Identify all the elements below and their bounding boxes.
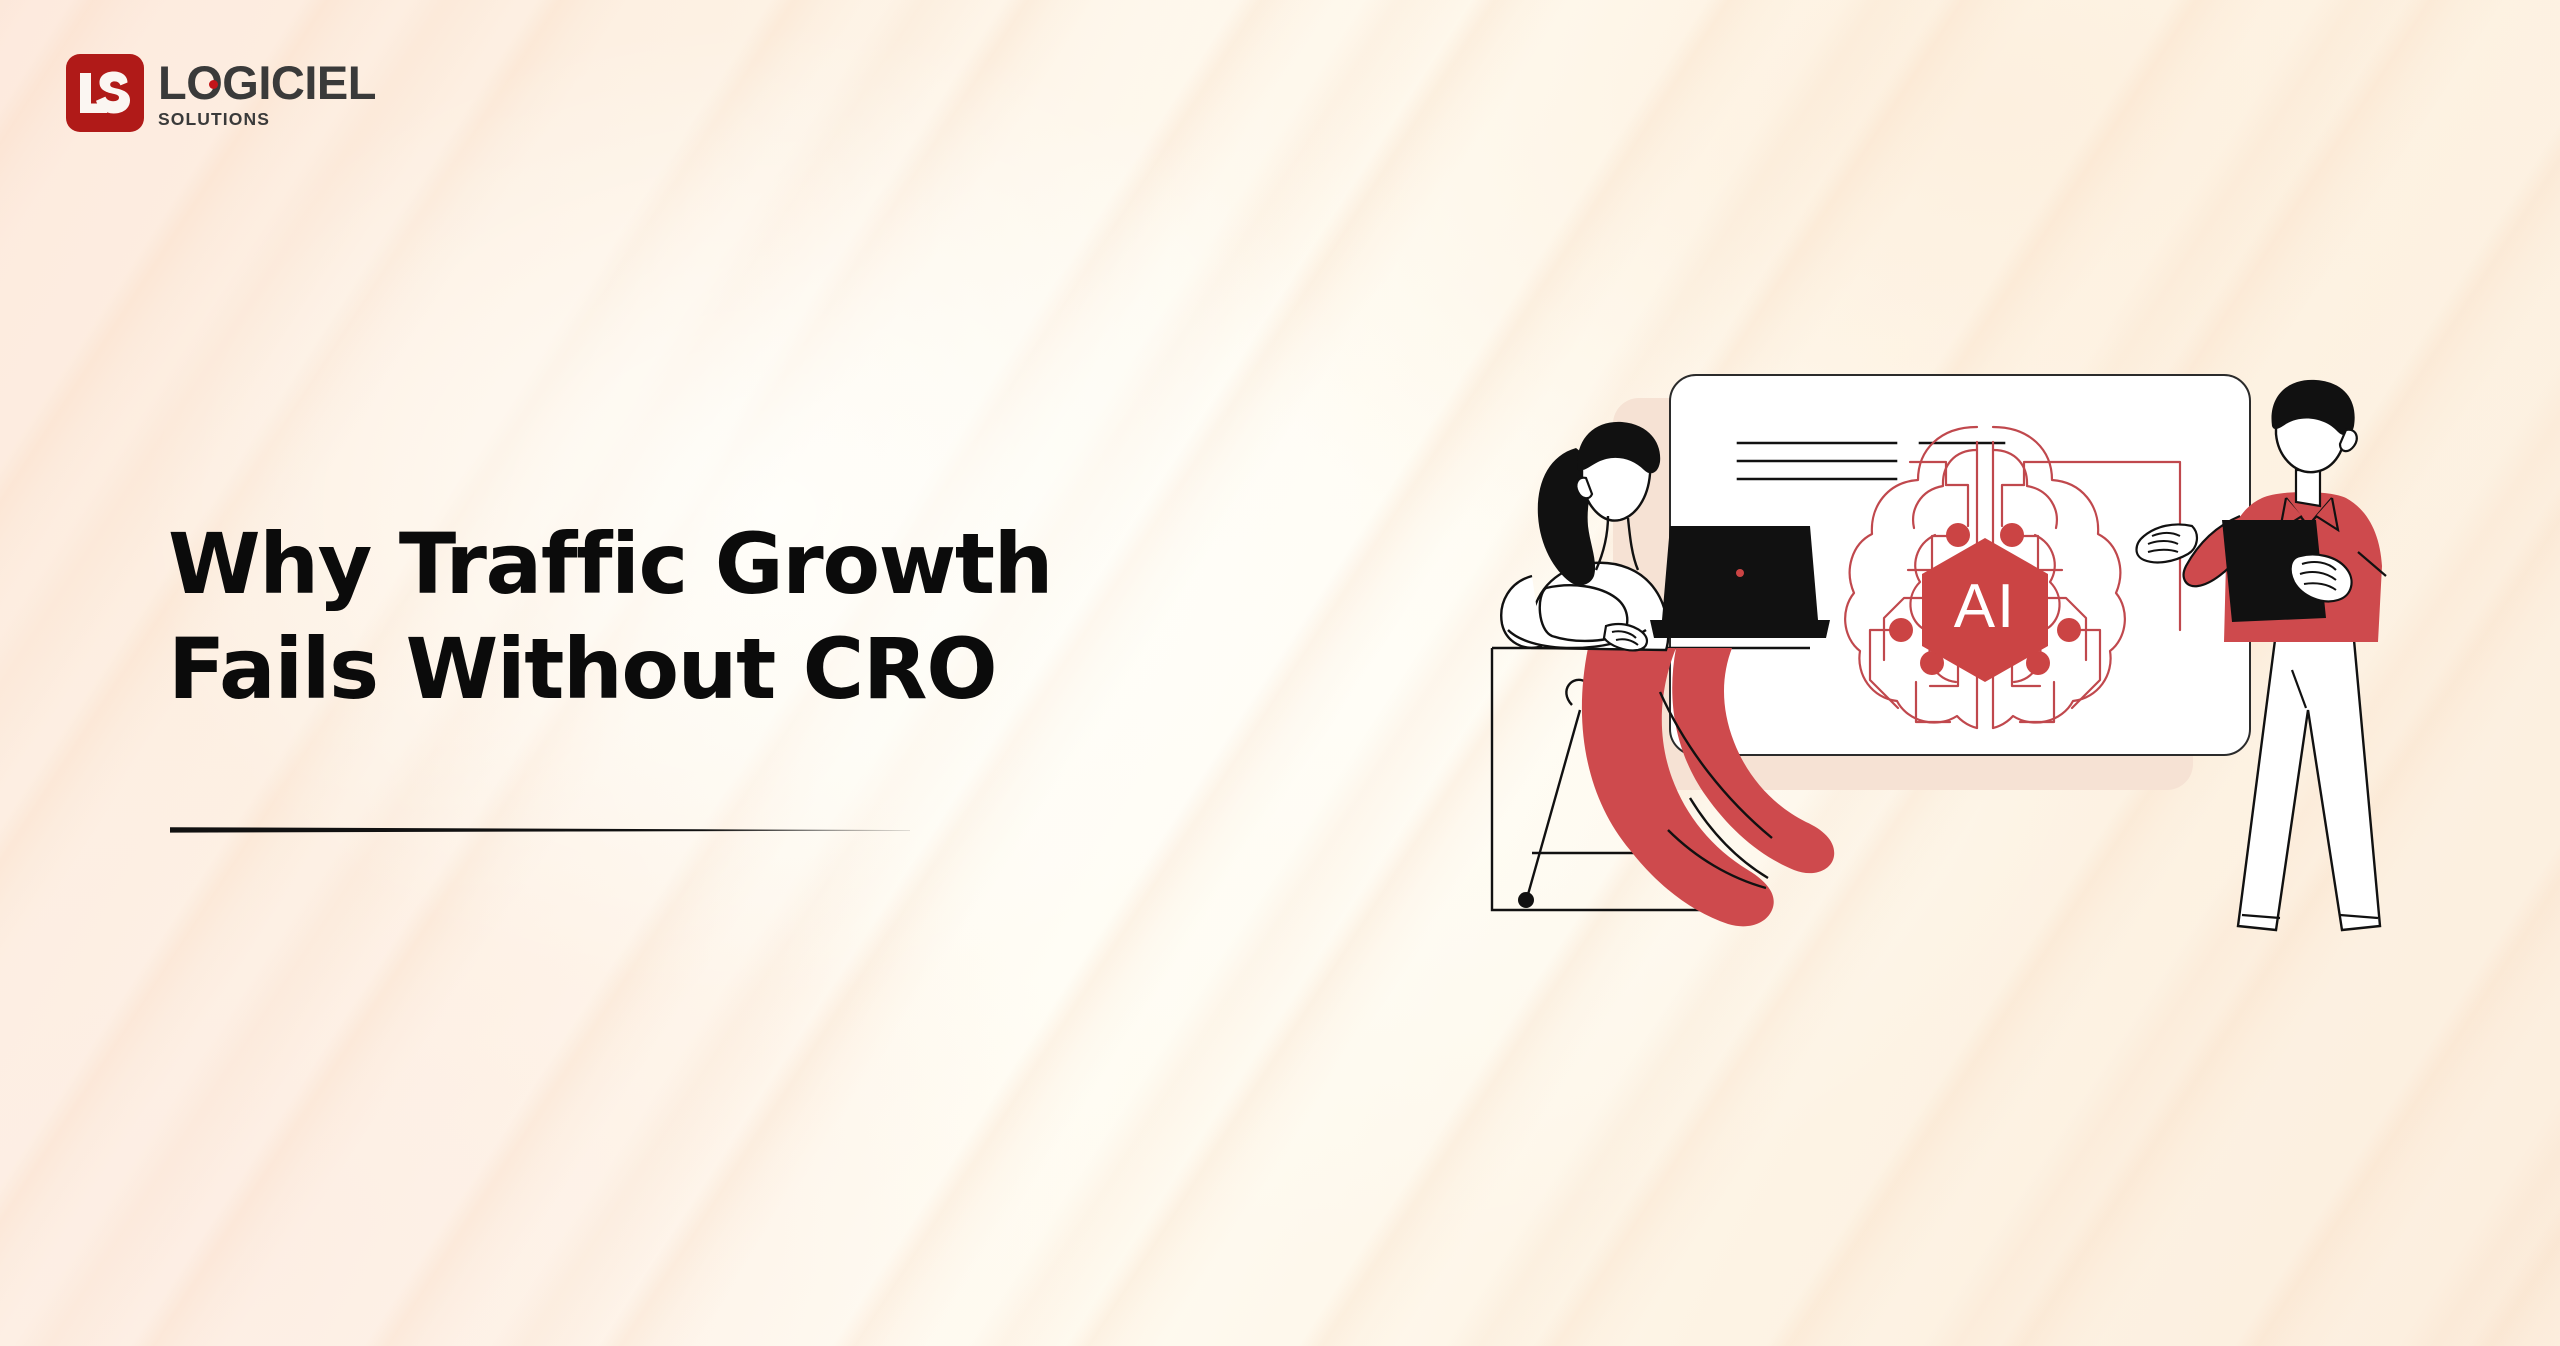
brand-logo[interactable]: LOGICIEL SOLUTIONS	[66, 54, 376, 132]
logo-subtitle: SOLUTIONS	[158, 109, 376, 130]
logo-name: LOGICIEL	[158, 60, 376, 105]
headline-line-2: Fails Without CRO	[168, 617, 1248, 722]
laptop-logo-dot	[1736, 569, 1744, 577]
laptop	[1650, 526, 1830, 638]
headline-block: Why Traffic Growth Fails Without CRO	[168, 512, 1248, 722]
logo-name-text: LOGICIEL	[158, 56, 376, 109]
ai-badge-label: AI	[1954, 572, 2017, 641]
blog-banner: LOGICIEL SOLUTIONS Why Traffic Growth Fa…	[0, 0, 2560, 1346]
hero-illustration: AI	[1480, 330, 2490, 1010]
man-pants	[2238, 640, 2380, 930]
logo-mark-ls	[66, 54, 144, 132]
stool-foot-dot	[1518, 892, 1534, 908]
headline-divider	[170, 826, 910, 834]
logo-red-dot-icon	[209, 80, 218, 89]
man-neck	[2296, 470, 2320, 506]
headline-line-1: Why Traffic Growth	[168, 512, 1248, 617]
woman-sleeve	[1501, 576, 1542, 648]
logo-wordmark: LOGICIEL SOLUTIONS	[158, 54, 376, 130]
